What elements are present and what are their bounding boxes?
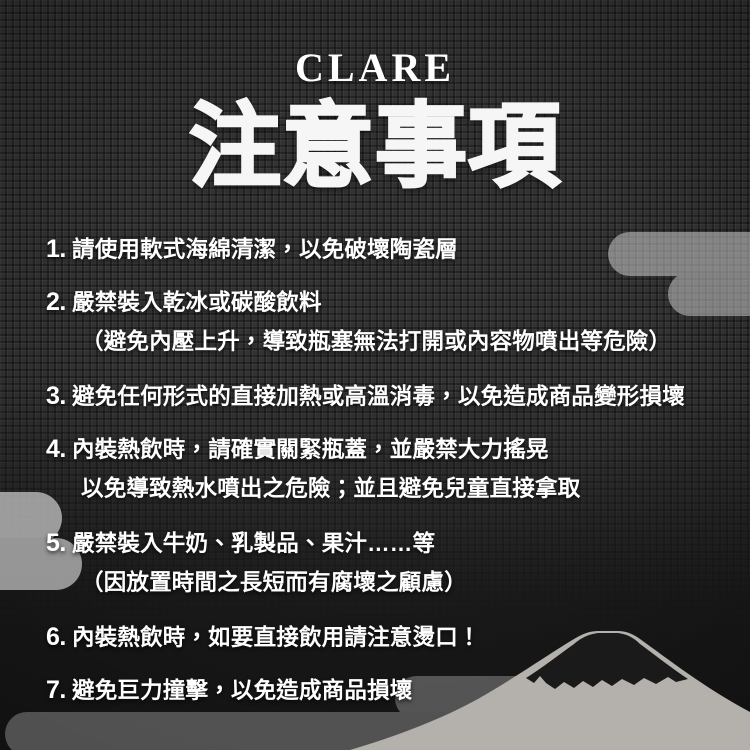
notice-subtext: （因放置時間之長短而有腐壞之顧慮） <box>72 565 720 597</box>
brand-name: CLARE <box>0 44 750 91</box>
notice-list: 1. 請使用軟式海綿清潔，以免破壞陶瓷層 2. 嚴禁裝入乾冰或碳酸飲料 （避免內… <box>46 232 720 713</box>
notice-subtext: （避免內壓上升，導致瓶塞無法打開或內容物噴出等危險） <box>72 324 720 356</box>
notice-item: 1. 請使用軟式海綿清潔，以免破壞陶瓷層 <box>46 232 720 264</box>
notice-subtext-row: （避免內壓上升，導致瓶塞無法打開或內容物噴出等危險） <box>46 324 720 356</box>
notice-number: 5. <box>46 529 72 558</box>
notice-item: 7. 避免巨力撞擊，以免造成商品損壞 <box>46 673 720 705</box>
notice-item: 6. 內裝熱飲時，如要直接飲用請注意燙口！ <box>46 620 720 652</box>
notice-number: 2. <box>46 288 72 317</box>
notice-text: 嚴禁裝入乾冰或碳酸飲料 <box>72 285 720 317</box>
notice-item: 5. 嚴禁裝入牛奶、乳製品、果汁……等 <box>46 526 720 558</box>
notice-number: 3. <box>46 382 72 411</box>
notice-item: 4. 內裝熱飲時，請確實關緊瓶蓋，並嚴禁大力搖晃 <box>46 432 720 464</box>
notice-text: 內裝熱飲時，如要直接飲用請注意燙口！ <box>72 620 720 652</box>
notice-number: 7. <box>46 676 72 705</box>
notice-subtext: 以免導致熱水噴出之危險；並且避免兒童直接拿取 <box>72 471 720 503</box>
notice-number: 4. <box>46 435 72 464</box>
notice-text: 避免巨力撞擊，以免造成商品損壞 <box>72 673 720 705</box>
notice-number: 1. <box>46 235 72 264</box>
poster-content: CLARE 注意事項 1. 請使用軟式海綿清潔，以免破壞陶瓷層 2. 嚴禁裝入乾… <box>0 0 750 750</box>
notice-text: 內裝熱飲時，請確實關緊瓶蓋，並嚴禁大力搖晃 <box>72 432 720 464</box>
notice-poster: CLARE 注意事項 1. 請使用軟式海綿清潔，以免破壞陶瓷層 2. 嚴禁裝入乾… <box>0 0 750 750</box>
notice-number: 6. <box>46 623 72 652</box>
page-title: 注意事項 <box>0 98 750 197</box>
notice-text: 避免任何形式的直接加熱或高溫消毒，以免造成商品變形損壞 <box>72 379 720 411</box>
notice-subtext-row: 以免導致熱水噴出之危險；並且避免兒童直接拿取 <box>46 471 720 503</box>
notice-item: 3. 避免任何形式的直接加熱或高溫消毒，以免造成商品變形損壞 <box>46 379 720 411</box>
notice-subtext-row: （因放置時間之長短而有腐壞之顧慮） <box>46 565 720 597</box>
notice-item: 2. 嚴禁裝入乾冰或碳酸飲料 <box>46 285 720 317</box>
notice-text: 請使用軟式海綿清潔，以免破壞陶瓷層 <box>72 232 720 264</box>
notice-text: 嚴禁裝入牛奶、乳製品、果汁……等 <box>72 526 720 558</box>
